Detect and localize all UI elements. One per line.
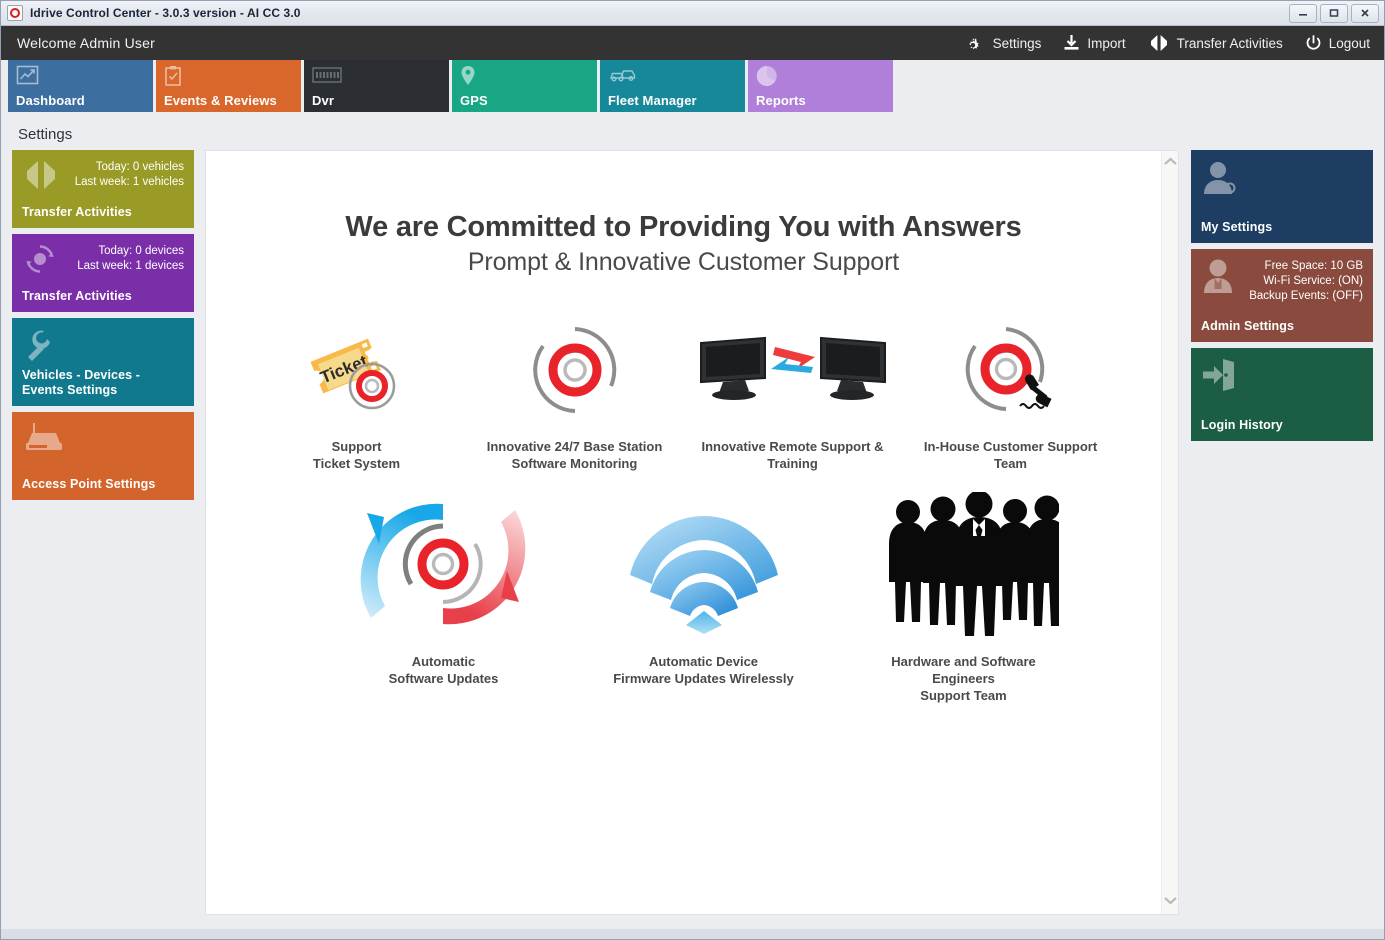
tab-fleet-manager[interactable]: Fleet Manager xyxy=(600,60,745,112)
wifi-signal-icon xyxy=(624,492,784,637)
wrench-icon xyxy=(22,327,58,366)
breadcrumb-label: Settings xyxy=(18,126,72,143)
left-tile-column: Today: 0 vehicles Last week: 1 vehicles … xyxy=(12,150,194,915)
caption-line-1: Hardware and Software Engineers xyxy=(864,653,1064,687)
menu-label-settings: Settings xyxy=(993,36,1042,51)
main-content-panel: We are Committed to Providing You with A… xyxy=(205,150,1179,915)
caption-line-2: Software Monitoring xyxy=(487,455,663,472)
menu-label-transfer-activities: Transfer Activities xyxy=(1177,36,1283,51)
clipboard-check-icon xyxy=(164,65,301,87)
map-pin-icon xyxy=(460,65,597,87)
dvr-icon xyxy=(312,65,449,87)
software-update-icon xyxy=(351,492,536,637)
tile-admin-settings[interactable]: Free Space: 10 GB Wi-Fi Service: (ON) Ba… xyxy=(1191,249,1373,342)
feature-engineers-support-team: Hardware and Software Engineers Support … xyxy=(864,492,1064,704)
target-ring-icon xyxy=(7,5,23,21)
feature-support-ticket-system: Ticket Support Ticket System xyxy=(257,317,457,472)
tab-reports[interactable]: Reports xyxy=(748,60,893,112)
maximize-button[interactable] xyxy=(1320,4,1348,23)
right-tile-column: My Settings Free Space: 10 GB Wi-Fi Serv… xyxy=(1191,150,1373,915)
chart-trend-icon xyxy=(16,65,153,87)
tile-title: My Settings xyxy=(1201,220,1363,235)
caption-line-1: In-House Customer Support xyxy=(924,438,1097,455)
remote-support-monitors-icon xyxy=(693,317,893,422)
breadcrumb: Settings xyxy=(1,118,1384,150)
caption-line-1: Innovative Remote Support & xyxy=(701,438,883,455)
page-body: Today: 0 vehicles Last week: 1 vehicles … xyxy=(1,150,1384,929)
gears-icon xyxy=(964,34,986,53)
menu-label-logout: Logout xyxy=(1329,36,1370,51)
feature-base-station-monitoring: Innovative 24/7 Base Station Software Mo… xyxy=(475,317,675,472)
top-menu-actions: Settings Import Transf xyxy=(964,34,1370,53)
tile-stat-lastweek: Last week: 1 devices xyxy=(77,259,184,274)
welcome-label: Welcome Admin User xyxy=(17,35,155,51)
tile-login-history[interactable]: Login History xyxy=(1191,348,1373,441)
tab-dvr[interactable]: Dvr xyxy=(304,60,449,112)
tab-label-fleet-manager: Fleet Manager xyxy=(608,93,697,108)
tile-my-settings[interactable]: My Settings xyxy=(1191,150,1373,243)
tile-title: Access Point Settings xyxy=(22,477,184,492)
device-sync-icon xyxy=(22,243,58,280)
tile-stat-free-space: Free Space: 10 GB xyxy=(1249,259,1363,274)
feature-row-1: Ticket Support Ticket System xyxy=(206,317,1161,472)
admin-user-icon xyxy=(1201,258,1235,299)
tab-label-reports: Reports xyxy=(756,93,806,108)
scroll-down-arrow[interactable] xyxy=(1164,896,1177,908)
tile-title: Login History xyxy=(1201,418,1363,433)
feature-caption: Hardware and Software Engineers Support … xyxy=(864,653,1064,704)
feature-caption: Automatic Software Updates xyxy=(389,653,499,687)
menu-item-settings[interactable]: Settings xyxy=(964,34,1042,53)
tile-vehicles-devices-events-settings[interactable]: Vehicles - Devices - Events Settings xyxy=(12,318,194,406)
tile-stat-wifi-service: Wi-Fi Service: (ON) xyxy=(1249,274,1363,289)
caption-line-2: Training xyxy=(701,455,883,472)
feature-row-2: Automatic Software Updates xyxy=(206,492,1161,704)
feature-remote-support-training: Innovative Remote Support & Training xyxy=(693,317,893,472)
menu-label-import: Import xyxy=(1087,36,1125,51)
caption-line-2: Firmware Updates Wirelessly xyxy=(613,670,794,687)
feature-caption: Innovative Remote Support & Training xyxy=(701,438,883,472)
tile-stats: Today: 0 vehicles Last week: 1 vehicles xyxy=(75,159,184,190)
tile-title: Transfer Activities xyxy=(22,205,184,220)
title-bar: Idrive Control Center - 3.0.3 version - … xyxy=(1,1,1384,26)
menu-item-import[interactable]: Import xyxy=(1063,34,1125,52)
transfer-arrows-icon xyxy=(22,159,60,196)
feature-in-house-customer-support: In-House Customer Support Team xyxy=(911,317,1111,472)
tile-access-point-settings[interactable]: Access Point Settings xyxy=(12,412,194,500)
pie-chart-icon xyxy=(756,65,893,87)
tab-label-dvr: Dvr xyxy=(312,93,334,108)
tile-title: Admin Settings xyxy=(1201,319,1363,334)
close-button[interactable] xyxy=(1351,4,1379,23)
main-content: We are Committed to Providing You with A… xyxy=(206,151,1161,914)
minimize-button[interactable] xyxy=(1289,4,1317,23)
status-bar xyxy=(1,929,1384,939)
application-window: Idrive Control Center - 3.0.3 version - … xyxy=(0,0,1385,940)
customer-support-phone-icon xyxy=(958,317,1063,422)
tile-stats: Free Space: 10 GB Wi-Fi Service: (ON) Ba… xyxy=(1249,258,1363,304)
engineers-team-icon xyxy=(869,492,1059,637)
tile-title: Transfer Activities xyxy=(22,289,184,304)
feature-caption: In-House Customer Support Team xyxy=(924,438,1097,472)
tab-label-gps: GPS xyxy=(460,93,488,108)
caption-line-1: Automatic xyxy=(389,653,499,670)
base-station-monitoring-icon xyxy=(525,317,625,422)
user-icon xyxy=(1201,159,1237,200)
download-icon xyxy=(1063,34,1080,52)
feature-automatic-software-updates: Automatic Software Updates xyxy=(344,492,544,687)
router-icon xyxy=(22,421,64,460)
tab-label-dashboard: Dashboard xyxy=(16,93,85,108)
window-title: Idrive Control Center - 3.0.3 version - … xyxy=(30,6,301,20)
menu-item-transfer-activities[interactable]: Transfer Activities xyxy=(1148,34,1283,52)
scroll-up-arrow[interactable] xyxy=(1164,157,1177,169)
tab-events-reviews[interactable]: Events & Reviews xyxy=(156,60,301,112)
page-subheadline: Prompt & Innovative Customer Support xyxy=(206,248,1161,277)
caption-line-2: Software Updates xyxy=(389,670,499,687)
tile-device-transfer-activities[interactable]: Today: 0 devices Last week: 1 devices Tr… xyxy=(12,234,194,312)
top-menu-bar: Welcome Admin User Settings xyxy=(1,26,1384,60)
vehicles-icon xyxy=(608,65,745,87)
page-headline: We are Committed to Providing You with A… xyxy=(206,211,1161,244)
tile-stat-backup-events: Backup Events: (OFF) xyxy=(1249,289,1363,304)
menu-item-logout[interactable]: Logout xyxy=(1305,35,1370,52)
feature-caption: Support Ticket System xyxy=(313,438,400,472)
feature-caption: Innovative 24/7 Base Station Software Mo… xyxy=(487,438,663,472)
caption-line-1: Innovative 24/7 Base Station xyxy=(487,438,663,455)
tab-gps[interactable]: GPS xyxy=(452,60,597,112)
tile-stat-today: Today: 0 vehicles xyxy=(75,160,184,175)
transfer-arrows-icon xyxy=(1148,34,1170,52)
power-icon xyxy=(1305,35,1322,52)
login-door-icon xyxy=(1201,357,1237,396)
caption-line-2: Ticket System xyxy=(313,455,400,472)
caption-line-2: Team xyxy=(924,455,1097,472)
tile-stat-today: Today: 0 devices xyxy=(77,244,184,259)
tile-stat-lastweek: Last week: 1 vehicles xyxy=(75,175,184,190)
support-ticket-icon: Ticket xyxy=(302,317,412,422)
caption-line-1: Support xyxy=(313,438,400,455)
main-nav-tabs: Dashboard Events & Reviews xyxy=(1,60,1384,118)
caption-line-1: Automatic Device xyxy=(613,653,794,670)
feature-caption: Automatic Device Firmware Updates Wirele… xyxy=(613,653,794,687)
tab-label-events-reviews: Events & Reviews xyxy=(164,93,277,108)
tile-stats: Today: 0 devices Last week: 1 devices xyxy=(77,243,184,274)
tab-dashboard[interactable]: Dashboard xyxy=(8,60,153,112)
content-vertical-scrollbar[interactable] xyxy=(1161,151,1178,914)
feature-automatic-firmware-updates: Automatic Device Firmware Updates Wirele… xyxy=(604,492,804,687)
caption-line-2: Support Team xyxy=(864,687,1064,704)
tile-vehicle-transfer-activities[interactable]: Today: 0 vehicles Last week: 1 vehicles … xyxy=(12,150,194,228)
window-controls xyxy=(1289,4,1382,23)
tile-title: Vehicles - Devices - Events Settings xyxy=(22,368,184,398)
